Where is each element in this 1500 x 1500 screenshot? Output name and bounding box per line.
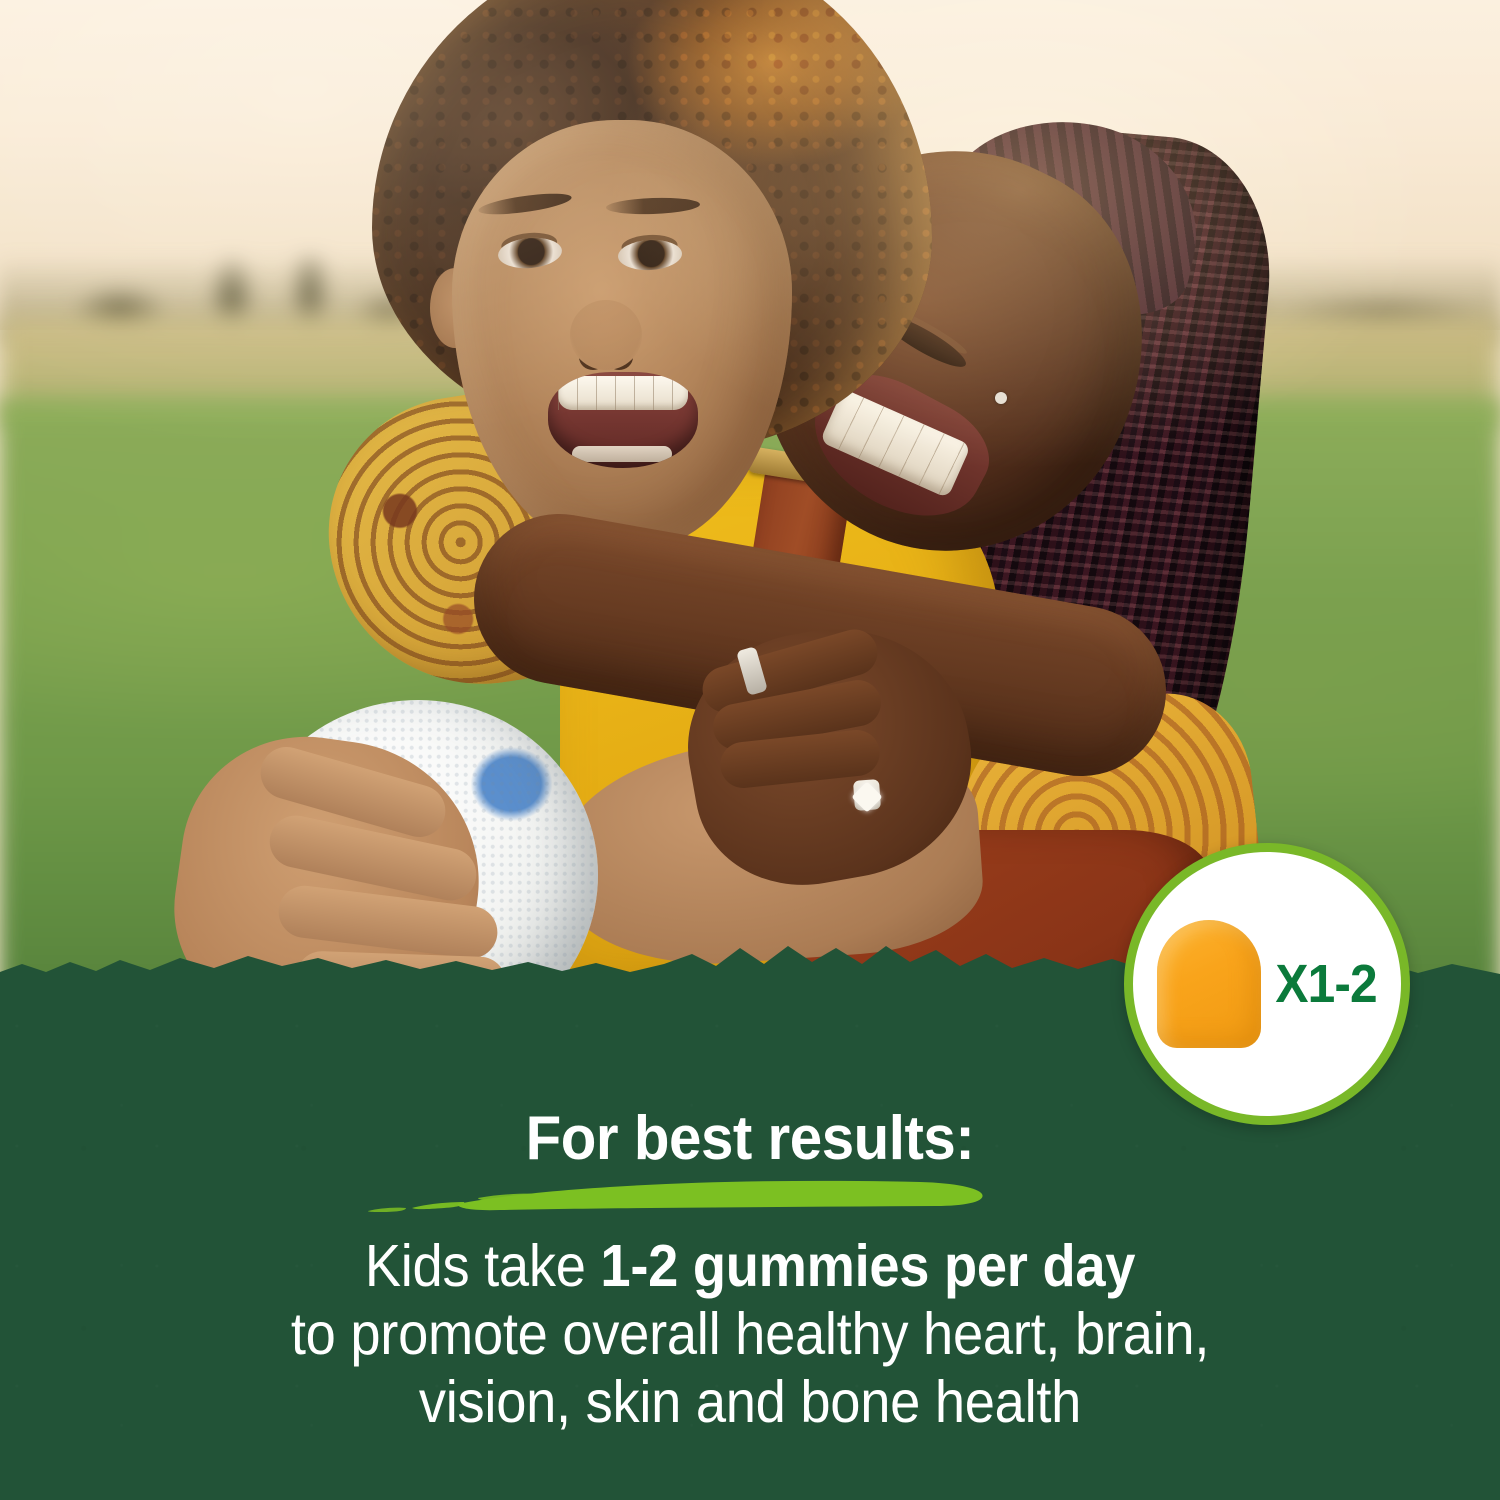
gummy-icon — [1157, 920, 1261, 1048]
product-banner: X1-2 For best results: Kids take 1-2 gum… — [0, 0, 1500, 1500]
brushstroke-underline — [360, 1166, 1020, 1214]
child-nose — [570, 300, 642, 370]
dosage-multiplier-label: X1-2 — [1275, 957, 1376, 1011]
body-line-1-plain: Kids take — [365, 1233, 601, 1299]
panel-headline: For best results: — [45, 1108, 1455, 1170]
body-line-3: vision, skin and bone health — [60, 1368, 1440, 1436]
child-smiling-mouth — [548, 372, 698, 468]
child-lower-teeth — [572, 446, 672, 462]
body-line-2: to promote overall healthy heart, brain, — [60, 1300, 1440, 1368]
dosage-badge: X1-2 — [1124, 843, 1410, 1125]
child-upper-teeth — [558, 376, 688, 410]
panel-body-text: Kids take 1-2 gummies per day to promote… — [0, 1232, 1500, 1436]
nose-ring — [995, 392, 1007, 404]
body-line-1: Kids take 1-2 gummies per day — [60, 1232, 1440, 1300]
body-line-1-bold: 1-2 gummies per day — [600, 1233, 1135, 1299]
